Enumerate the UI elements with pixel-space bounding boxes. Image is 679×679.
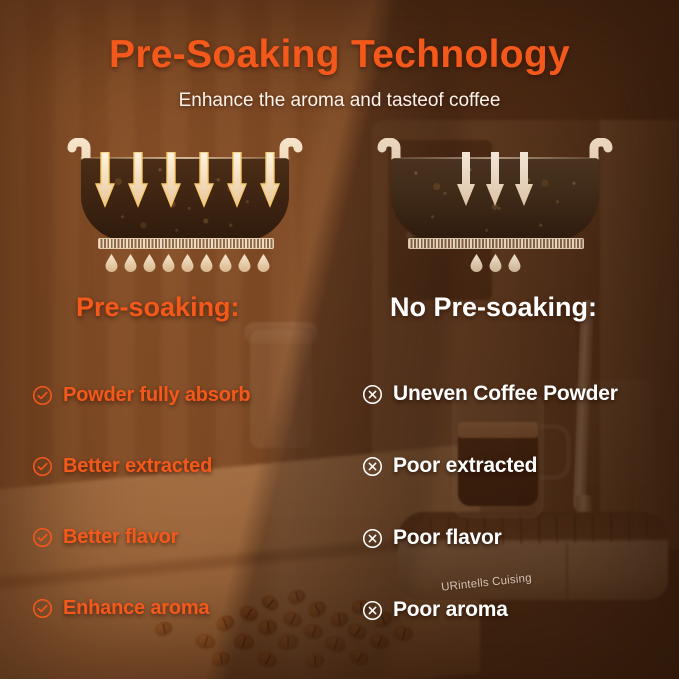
check-circle-icon: [32, 456, 53, 477]
droplet-icon: [257, 254, 270, 272]
page-subtitle: Enhance the aroma and tasteof coffee: [0, 90, 679, 112]
water-arrow-icon: [227, 152, 247, 208]
list-item: Poor flavor: [362, 502, 672, 574]
water-droplets: [360, 254, 630, 278]
check-circle-icon: [32, 598, 53, 619]
list-item: Better flavor: [32, 502, 352, 573]
droplet-icon: [143, 254, 156, 272]
x-circle-icon: [362, 528, 383, 549]
droplet-icon: [162, 254, 175, 272]
list-item: Enhance aroma: [32, 573, 352, 644]
droplet-icon: [489, 254, 502, 272]
water-arrow-icon: [456, 152, 476, 208]
water-arrow-icon: [95, 152, 115, 208]
check-circle-icon: [32, 385, 53, 406]
filter-mesh-plate: [98, 238, 274, 249]
list-item: Powder fully absorb: [32, 360, 352, 431]
list-item-label: Uneven Coffee Powder: [393, 382, 618, 406]
x-circle-icon: [362, 384, 383, 405]
infographic-canvas: Pre-Soaking Technology Enhance the aroma…: [0, 0, 679, 679]
x-circle-icon: [362, 600, 383, 621]
list-item-label: Powder fully absorb: [63, 384, 250, 407]
droplet-icon: [470, 254, 483, 272]
no-pre-soaking-heading: No Pre-soaking:: [390, 292, 597, 323]
droplet-icon: [105, 254, 118, 272]
water-flow-arrows: [360, 152, 630, 214]
pre-soaking-heading: Pre-soaking:: [76, 292, 240, 323]
droplet-icon: [238, 254, 251, 272]
no-pre-soaking-drawbacks-list: Uneven Coffee Powder Poor extracted Poor…: [362, 358, 672, 646]
list-item-label: Better extracted: [63, 455, 212, 478]
list-item: Poor extracted: [362, 430, 672, 502]
list-item: Uneven Coffee Powder: [362, 358, 672, 430]
no-pre-soaking-diagram: [360, 138, 630, 278]
droplet-icon: [508, 254, 521, 272]
water-flow-arrows: [50, 152, 320, 214]
water-arrow-icon: [161, 152, 181, 208]
droplet-icon: [181, 254, 194, 272]
list-item-label: Poor extracted: [393, 454, 537, 478]
droplet-icon: [200, 254, 213, 272]
list-item-label: Enhance aroma: [63, 597, 209, 620]
list-item-label: Better flavor: [63, 526, 178, 549]
water-arrow-icon: [514, 152, 534, 208]
pre-soaking-diagram: [50, 138, 320, 278]
droplet-icon: [124, 254, 137, 272]
filter-mesh-plate: [408, 238, 584, 249]
check-circle-icon: [32, 527, 53, 548]
water-arrow-icon: [128, 152, 148, 208]
list-item: Better extracted: [32, 431, 352, 502]
page-title: Pre-Soaking Technology: [0, 33, 679, 77]
pre-soaking-benefits-list: Powder fully absorb Better extracted Bet…: [32, 360, 352, 644]
list-item-label: Poor flavor: [393, 526, 502, 550]
water-droplets: [50, 254, 320, 278]
droplet-icon: [219, 254, 232, 272]
water-arrow-icon: [194, 152, 214, 208]
water-arrow-icon: [260, 152, 280, 208]
x-circle-icon: [362, 456, 383, 477]
water-arrow-icon: [485, 152, 505, 208]
list-item-label: Poor aroma: [393, 598, 508, 622]
